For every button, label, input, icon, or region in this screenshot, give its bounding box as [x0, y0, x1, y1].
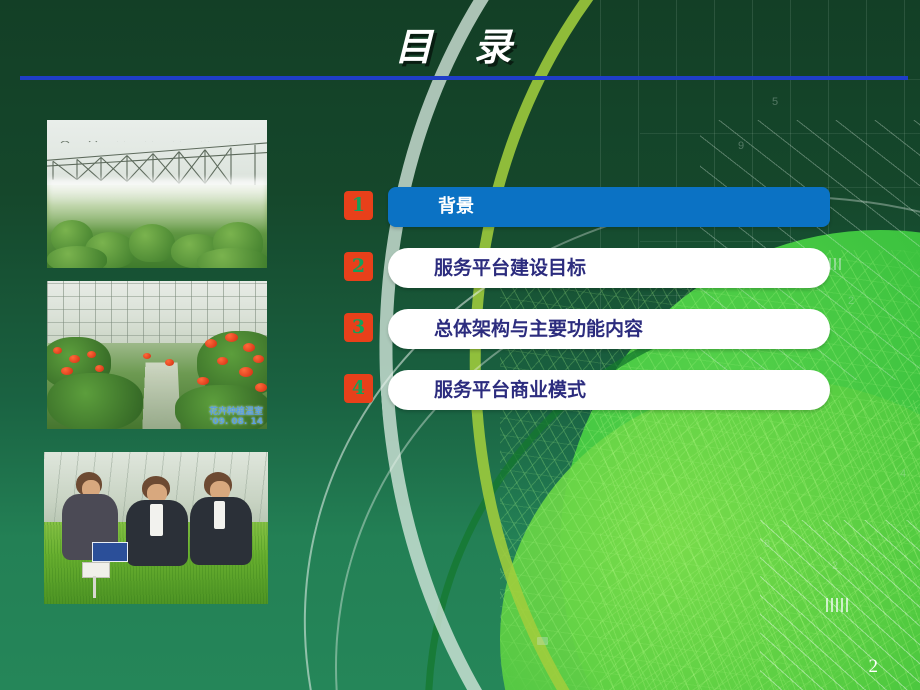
- pivot-irrigation-photo: [47, 120, 267, 268]
- photo2-flower: [225, 333, 238, 342]
- toc-item-1[interactable]: 1 背景: [344, 187, 830, 227]
- photo2-foliage: [47, 373, 143, 429]
- photo2-flower: [217, 357, 228, 365]
- photo2-flower: [205, 339, 217, 348]
- tick-marks-lower: [826, 598, 850, 612]
- photo2-flower: [197, 377, 209, 385]
- photo3-label-stake: [82, 562, 110, 578]
- toc-item-2[interactable]: 2 服务平台建设目标: [344, 248, 830, 288]
- photo2-flower: [143, 353, 151, 359]
- photo2-flower: [253, 355, 264, 363]
- photo2-flower: [239, 367, 253, 377]
- toc-item-3[interactable]: 3 总体架构与主要功能内容: [344, 309, 830, 349]
- toc-item-4[interactable]: 4 服务平台商业模式: [344, 370, 830, 410]
- technical-diagonal-lines-lower: [760, 520, 920, 690]
- ghost-number-0: 5: [772, 96, 778, 108]
- ghost-number-4: 2: [832, 560, 838, 572]
- slide-number: 2: [869, 656, 879, 678]
- photo2-flower: [95, 365, 104, 372]
- toc-badge-4: 4: [344, 374, 373, 403]
- photo1-foliage: [129, 224, 175, 262]
- photo3-blue-sign: [92, 542, 128, 562]
- photo2-caption-text: 花卉种植温室: [209, 407, 263, 417]
- photo1-foliage: [197, 248, 267, 268]
- photo2-flower: [243, 343, 255, 352]
- toc-label-3: 总体架构与主要功能内容: [434, 309, 643, 349]
- toc-label-2: 服务平台建设目标: [434, 248, 586, 288]
- toc-pill-3[interactable]: 总体架构与主要功能内容: [388, 309, 830, 349]
- toc-pill-4[interactable]: 服务平台商业模式: [388, 370, 830, 410]
- table-of-contents: 1 背景 2 服务平台建设目标 3 总体架构与主要功能内容 4 服务平台商业模式: [344, 187, 830, 431]
- ghost-number-2: 2: [848, 295, 854, 307]
- toc-badge-2: 2: [344, 252, 373, 281]
- photo2-flower: [87, 351, 96, 358]
- photo2-flower: [53, 347, 62, 354]
- photo2-flower: [69, 355, 80, 363]
- photo2-flower: [255, 383, 267, 392]
- leaf-vein-texture-secondary: [600, 400, 920, 690]
- photo2-timestamp-text: '09. 08. 14: [209, 417, 263, 427]
- photo3-shirt: [150, 504, 163, 536]
- toc-badge-1: 1: [344, 191, 373, 220]
- toc-pill-1[interactable]: 背景: [388, 187, 830, 227]
- toc-label-4: 服务平台商业模式: [434, 370, 586, 410]
- page-title: 目 录: [0, 16, 920, 71]
- toc-pill-2[interactable]: 服务平台建设目标: [388, 248, 830, 288]
- photo2-aisle: [142, 363, 181, 429]
- photo2-flower: [165, 359, 174, 366]
- ghost-number-1: 9: [738, 140, 744, 152]
- greenhouse-inspection-photo: [44, 452, 268, 604]
- photo2-timestamp-overlay: 花卉种植温室 '09. 08. 14: [209, 407, 263, 427]
- photo3-shirt: [214, 501, 225, 529]
- footer-watermark-mark: [537, 637, 548, 645]
- photo1-foliage: [47, 246, 107, 268]
- photo2-flower: [61, 367, 73, 375]
- toc-badge-3: 3: [344, 313, 373, 342]
- title-divider-rule: [20, 76, 908, 80]
- toc-label-1: 背景: [438, 187, 474, 227]
- presentation-slide: 5 9 2 8 2 4 目 录: [0, 0, 920, 690]
- photo3-stake-post: [93, 576, 96, 598]
- ghost-number-3: 8: [764, 538, 770, 550]
- greenhouse-flowers-photo: 花卉种植温室 '09. 08. 14: [47, 281, 267, 429]
- leaf-shape-teal: [700, 420, 920, 690]
- ghost-number-5: 4: [900, 468, 906, 480]
